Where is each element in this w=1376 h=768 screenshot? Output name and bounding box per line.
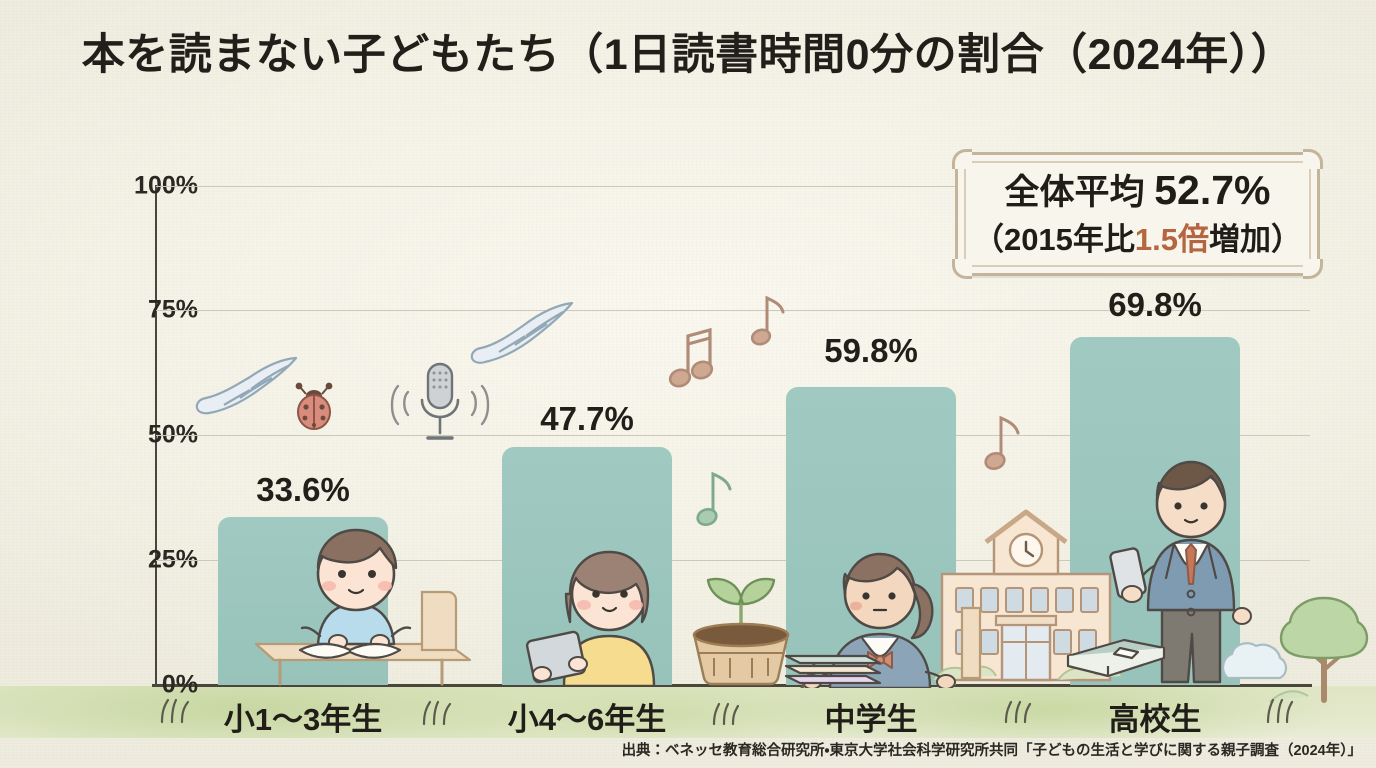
- page-title: 本を読まない子どもたち（1日読書時間0分の割合（2024年））: [0, 20, 1376, 82]
- bar-elementary-1-3: [218, 517, 388, 685]
- music-note-icon: [751, 288, 791, 352]
- callout-average-prefix: 全体平均: [1005, 173, 1155, 212]
- category-label-junior-high: 中学生: [825, 694, 918, 739]
- music-note-icon: [666, 324, 720, 396]
- bar-value-label-elementary-4-6: 47.7%: [540, 400, 634, 438]
- bar-value-label-elementary-1-3: 33.6%: [256, 471, 350, 509]
- callout-average-value: 52.7%: [1154, 167, 1270, 213]
- bar-junior-high: [786, 387, 956, 685]
- microphone-icon: [388, 356, 492, 452]
- bar-elementary-4-6: [502, 447, 672, 685]
- category-label-high-school: 高校生: [1109, 694, 1202, 739]
- average-callout: 全体平均 52.7% （2015年比1.5倍増加）: [955, 152, 1320, 276]
- bar-high-school: [1070, 337, 1240, 685]
- ladybug-icon: [286, 380, 342, 436]
- bar-value-label-high-school: 69.8%: [1108, 286, 1202, 324]
- source-citation: 出典：ベネッセ教育総合研究所・東京大学社会科学研究所共同「子どもの生活と学びに関…: [622, 739, 1362, 760]
- callout-comparison-close: 増加）: [1209, 222, 1302, 257]
- callout-comparison-line: （2015年比1.5倍増加）: [955, 214, 1320, 259]
- category-label-elementary-4-6: 小4〜6年生: [508, 694, 666, 739]
- music-note-icon: [696, 464, 738, 534]
- callout-corner-bottom-right: [1303, 259, 1323, 279]
- infographic-canvas: 本を読まない子どもたち（1日読書時間0分の割合（2024年）） 100% 75%…: [0, 0, 1376, 768]
- wing-icon: [192, 352, 302, 422]
- callout-average-line: 全体平均 52.7%: [955, 164, 1320, 215]
- callout-comparison-highlight: 1.5倍: [1135, 222, 1209, 257]
- bar-value-label-junior-high: 59.8%: [824, 332, 918, 370]
- category-label-elementary-1-3: 小1〜3年生: [224, 694, 382, 739]
- music-note-icon: [984, 408, 1026, 478]
- callout-comparison-open: （2015年比: [973, 222, 1135, 257]
